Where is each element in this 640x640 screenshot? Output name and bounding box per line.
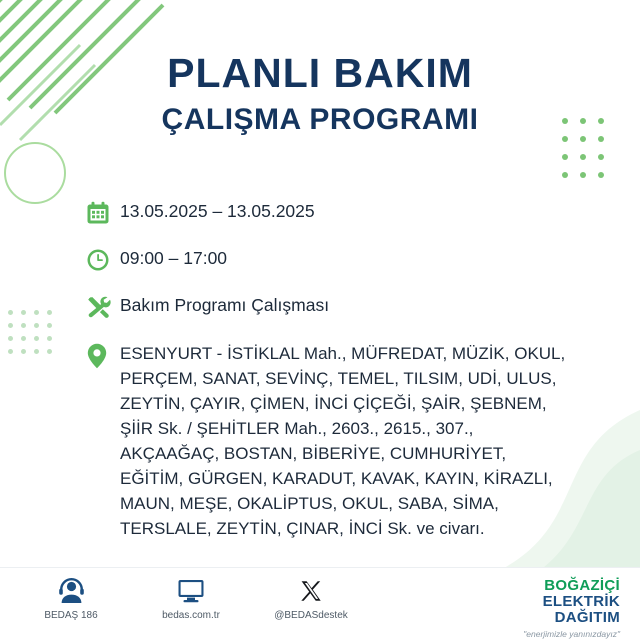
brand-slogan: "enerjimizle yanınızdayız" [523,629,620,639]
info-row-work: Bakım Programı Çalışması [86,294,610,319]
info-row-address: ESENYURT - İSTİKLAL Mah., MÜFREDAT, MÜZİ… [86,341,610,541]
poster-header: PLANLI BAKIM ÇALIŞMA PROGRAMI [0,52,640,137]
address-line: ESENYURT - İSTİKLAL Mah., MÜFREDAT, MÜZİ… [120,344,565,363]
info-row-date: 13.05.2025 – 13.05.2025 [86,200,610,225]
footer-label-call-center: BEDAŞ 186 [28,610,114,621]
info-block: 13.05.2025 – 13.05.2025 09:00 – 17:00 [86,200,610,541]
monitor-icon [148,576,234,606]
poster-root: PLANLI BAKIM ÇALIŞMA PROGRAMI 13 [0,0,640,640]
headset-operator-icon [28,576,114,606]
footer-label-website: bedas.com.tr [148,610,234,621]
page-subtitle: ÇALIŞMA PROGRAMI [0,103,640,137]
brand-line-2: ELEKTRİK [523,594,620,610]
footer-item-twitter[interactable]: @BEDASdestek [268,576,354,621]
address-text: ESENYURT - İSTİKLAL Mah., MÜFREDAT, MÜZİ… [120,341,565,541]
address-line: EĞİTİM, GÜRGEN, KARADUT, KAVAK, KAYIN, K… [120,469,553,488]
footer-label-twitter: @BEDASdestek [268,610,354,621]
date-range-text: 13.05.2025 – 13.05.2025 [120,200,315,221]
bedas-logo: BOĞAZİÇİ ELEKTRİK DAĞITIM "enerjimizle y… [523,578,620,639]
address-line: PERÇEM, SANAT, SEVİNÇ, TEMEL, TILSIM, UD… [120,369,556,388]
clock-icon [86,247,120,272]
decorative-circle [4,142,66,204]
footer: BEDAŞ 186 bedas.com.tr [0,567,640,640]
address-line: MAUN, MEŞE, OKALİPTUS, OKUL, SABA, SİMA, [120,494,499,513]
time-range-text: 09:00 – 17:00 [120,247,227,268]
footer-item-website[interactable]: bedas.com.tr [148,576,234,621]
tools-icon [86,294,120,319]
footer-item-call-center[interactable]: BEDAŞ 186 [28,576,114,621]
brand-line-1: BOĞAZİÇİ [523,578,620,594]
address-line: ZEYTİN, ÇAYIR, ÇİMEN, İNCİ ÇİÇEĞİ, ŞAİR,… [120,394,547,413]
address-line: AKÇAAĞAÇ, BOSTAN, BİBERİYE, CUMHURİYET, [120,444,506,463]
x-twitter-icon [268,576,354,606]
work-type-text: Bakım Programı Çalışması [120,294,329,315]
brand-line-3: DAĞITIM [523,610,620,626]
footer-contact-items: BEDAŞ 186 bedas.com.tr [28,576,354,621]
address-line: TERSLALE, ZEYTİN, ÇINAR, İNCİ Sk. ve civ… [120,519,485,538]
calendar-icon [86,200,120,225]
location-pin-icon [86,341,120,369]
decorative-dots-left [8,310,52,354]
page-title: PLANLI BAKIM [0,52,640,95]
info-row-time: 09:00 – 17:00 [86,247,610,272]
address-line: ŞİİR Sk. / ŞEHİTLER Mah., 2603., 2615., … [120,419,473,438]
